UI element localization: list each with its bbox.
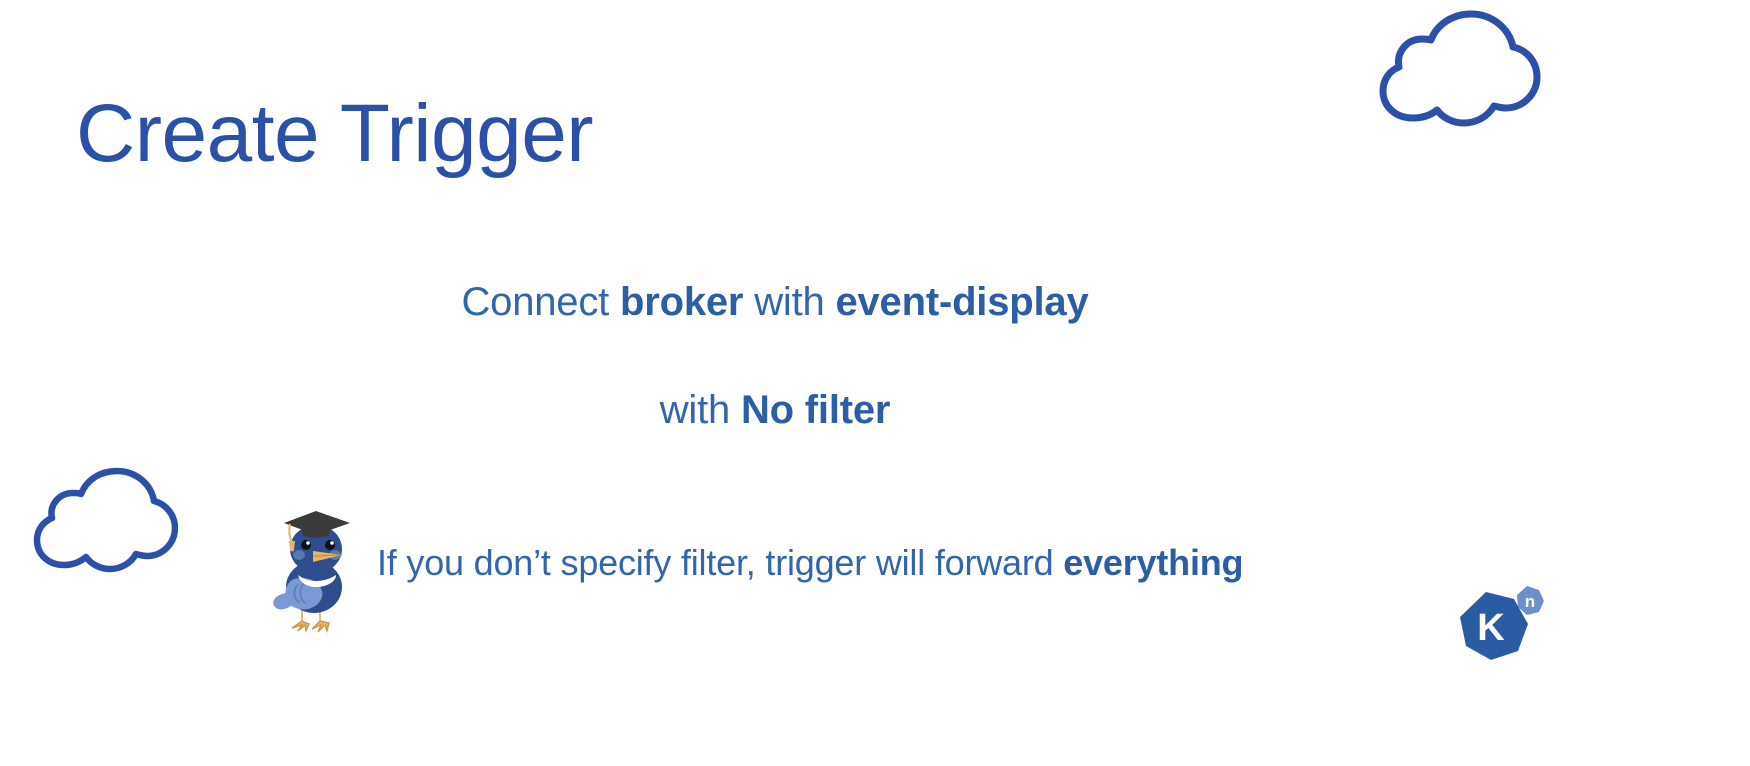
graduate-bird-mascot-icon [268,505,358,635]
connect-text-middle: with [743,280,835,324]
slide-canvas: Create Trigger Connect broker with event… [0,0,1750,766]
cloud-outline-icon [18,466,178,574]
knative-logo-letter-k: K [1477,607,1505,649]
page-title: Create Trigger [76,89,593,179]
instruction-line-connect: Connect broker with event-display [0,278,1750,326]
connect-text-prefix: Connect [461,280,620,324]
filter-text-prefix: with [660,388,741,432]
cloud-outline-icon [1361,8,1541,128]
filter-value: No filter [741,388,890,432]
connect-target-name: event-display [835,280,1088,324]
note-text-prefix: If you don’t specify filter, trigger wil… [377,542,1063,583]
connect-source-name: broker [620,280,743,324]
knative-logo-letter-n: n [1525,592,1535,611]
note-emphasis: everything [1063,542,1243,583]
instruction-line-filter: with No filter [0,386,1750,434]
instruction-line-note: If you don’t specify filter, trigger wil… [377,541,1243,584]
knative-logo: K n [1448,582,1548,677]
